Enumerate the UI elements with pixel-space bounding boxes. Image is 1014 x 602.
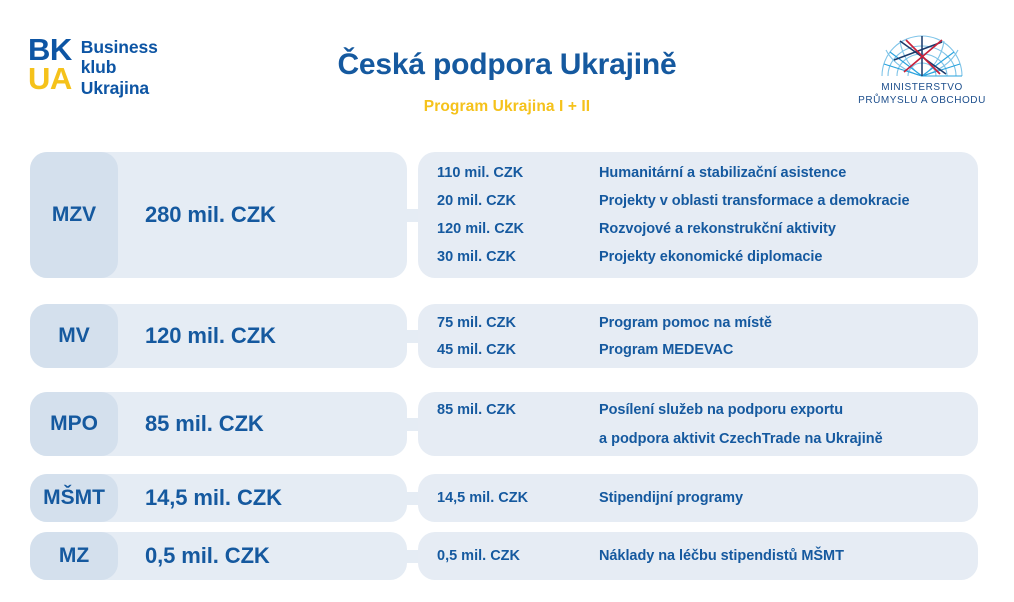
ministry-code-label: MV (58, 324, 90, 348)
breakdown-description: Projekty v oblasti transformace a demokr… (599, 193, 910, 209)
row-connector (407, 304, 418, 368)
bkua-logo-mark: BK UA (28, 36, 72, 93)
ministry-breakdown-card: 85 mil. CZKPosílení služeb na podporu ex… (418, 392, 978, 456)
breakdown-item: 14,5 mil. CZKStipendijní programy (437, 490, 978, 506)
ministry-name-line2: PRŮMYSLU A OBCHODU (852, 95, 992, 108)
bkua-mark-ua: UA (28, 65, 72, 94)
bkua-word-klub: klub (81, 57, 158, 77)
breakdown-amount: 85 mil. CZK (437, 402, 599, 418)
bkua-logo: BK UA Business klub Ukrajina (28, 36, 158, 98)
breakdown-amount: 20 mil. CZK (437, 193, 599, 209)
breakdown-description: Posílení služeb na podporu exportu (599, 402, 843, 418)
ministry-breakdown-card: 0,5 mil. CZKNáklady na léčbu stipendistů… (418, 532, 978, 580)
funding-row: MV120 mil. CZK75 mil. CZKProgram pomoc n… (0, 304, 1014, 368)
row-connector (407, 474, 418, 522)
breakdown-amount: 30 mil. CZK (437, 249, 599, 265)
title-block: Česká podpora Ukrajině Program Ukrajina … (220, 48, 794, 116)
ministry-logo-text: MINISTERSTVO PRŮMYSLU A OBCHODU (852, 82, 992, 107)
ministry-code-label: MZV (52, 203, 96, 227)
breakdown-description-continued: a podpora aktivit CzechTrade na Ukrajině (599, 431, 978, 447)
ministry-total-amount: 0,5 mil. CZK (145, 543, 270, 569)
bkua-word-ukrajina: Ukrajina (81, 78, 158, 98)
page-subtitle: Program Ukrajina I + II (220, 98, 794, 116)
breakdown-item: 30 mil. CZKProjekty ekonomické diplomaci… (437, 249, 978, 265)
breakdown-description: Rozvojové a rekonstrukční aktivity (599, 221, 836, 237)
ministry-code-chip: MV (30, 304, 118, 368)
bkua-word-business: Business (81, 37, 158, 57)
breakdown-description: Projekty ekonomické diplomacie (599, 249, 822, 265)
funding-rows: MZV280 mil. CZK110 mil. CZKHumanitární a… (0, 152, 1014, 590)
breakdown-description: Program pomoc na místě (599, 315, 772, 331)
breakdown-item: 45 mil. CZKProgram MEDEVAC (437, 342, 978, 358)
ministry-code-chip: MŠMT (30, 474, 118, 522)
page-header: BK UA Business klub Ukrajina Česká podpo… (0, 0, 1014, 145)
ministry-total-amount: 280 mil. CZK (145, 202, 276, 228)
breakdown-item: 0,5 mil. CZKNáklady na léčbu stipendistů… (437, 548, 978, 564)
page-title: Česká podpora Ukrajině (220, 48, 794, 81)
bkua-logo-wordmark: Business klub Ukrajina (81, 36, 158, 98)
funding-row: MZV280 mil. CZK110 mil. CZKHumanitární a… (0, 152, 1014, 278)
funding-row: MZ0,5 mil. CZK0,5 mil. CZKNáklady na léč… (0, 532, 1014, 580)
ministry-summary-card: MV120 mil. CZK (30, 304, 407, 368)
breakdown-description: Program MEDEVAC (599, 342, 733, 358)
funding-row: MPO85 mil. CZK85 mil. CZKPosílení služeb… (0, 392, 1014, 456)
breakdown-amount: 14,5 mil. CZK (437, 490, 599, 506)
breakdown-item: 85 mil. CZKPosílení služeb na podporu ex… (437, 402, 978, 418)
breakdown-description: Stipendijní programy (599, 490, 743, 506)
ministry-code-label: MŠMT (43, 486, 105, 510)
breakdown-amount: 75 mil. CZK (437, 315, 599, 331)
breakdown-description: Humanitární a stabilizační asistence (599, 165, 846, 181)
ministry-breakdown-card: 75 mil. CZKProgram pomoc na místě45 mil.… (418, 304, 978, 368)
ministry-code-label: MZ (59, 544, 89, 568)
breakdown-amount: 120 mil. CZK (437, 221, 599, 237)
ministry-summary-card: MPO85 mil. CZK (30, 392, 407, 456)
ministry-code-chip: MZV (30, 152, 118, 278)
ministry-code-chip: MPO (30, 392, 118, 456)
ministry-summary-card: MŠMT14,5 mil. CZK (30, 474, 407, 522)
ministry-breakdown-card: 14,5 mil. CZKStipendijní programy (418, 474, 978, 522)
breakdown-item: 120 mil. CZKRozvojové a rekonstrukční ak… (437, 221, 978, 237)
breakdown-amount: 0,5 mil. CZK (437, 548, 599, 564)
ministry-total-amount: 85 mil. CZK (145, 411, 264, 437)
ministry-breakdown-card: 110 mil. CZKHumanitární a stabilizační a… (418, 152, 978, 278)
row-connector (407, 392, 418, 456)
ministry-summary-card: MZV280 mil. CZK (30, 152, 407, 278)
ministry-summary-card: MZ0,5 mil. CZK (30, 532, 407, 580)
breakdown-item: 110 mil. CZKHumanitární a stabilizační a… (437, 165, 978, 181)
ministry-code-label: MPO (50, 412, 98, 436)
breakdown-description: Náklady na léčbu stipendistů MŠMT (599, 548, 844, 564)
breakdown-item: 20 mil. CZKProjekty v oblasti transforma… (437, 193, 978, 209)
row-connector (407, 532, 418, 580)
ministry-total-amount: 120 mil. CZK (145, 323, 276, 349)
row-connector (407, 152, 418, 278)
ministry-name-line1: MINISTERSTVO (852, 82, 992, 95)
breakdown-item: 75 mil. CZKProgram pomoc na místě (437, 315, 978, 331)
globe-network-icon (876, 30, 968, 80)
ministry-total-amount: 14,5 mil. CZK (145, 485, 282, 511)
ministry-code-chip: MZ (30, 532, 118, 580)
breakdown-amount: 110 mil. CZK (437, 165, 599, 181)
ministry-logo: MINISTERSTVO PRŮMYSLU A OBCHODU (852, 30, 992, 107)
funding-row: MŠMT14,5 mil. CZK14,5 mil. CZKStipendijn… (0, 474, 1014, 522)
breakdown-amount: 45 mil. CZK (437, 342, 599, 358)
